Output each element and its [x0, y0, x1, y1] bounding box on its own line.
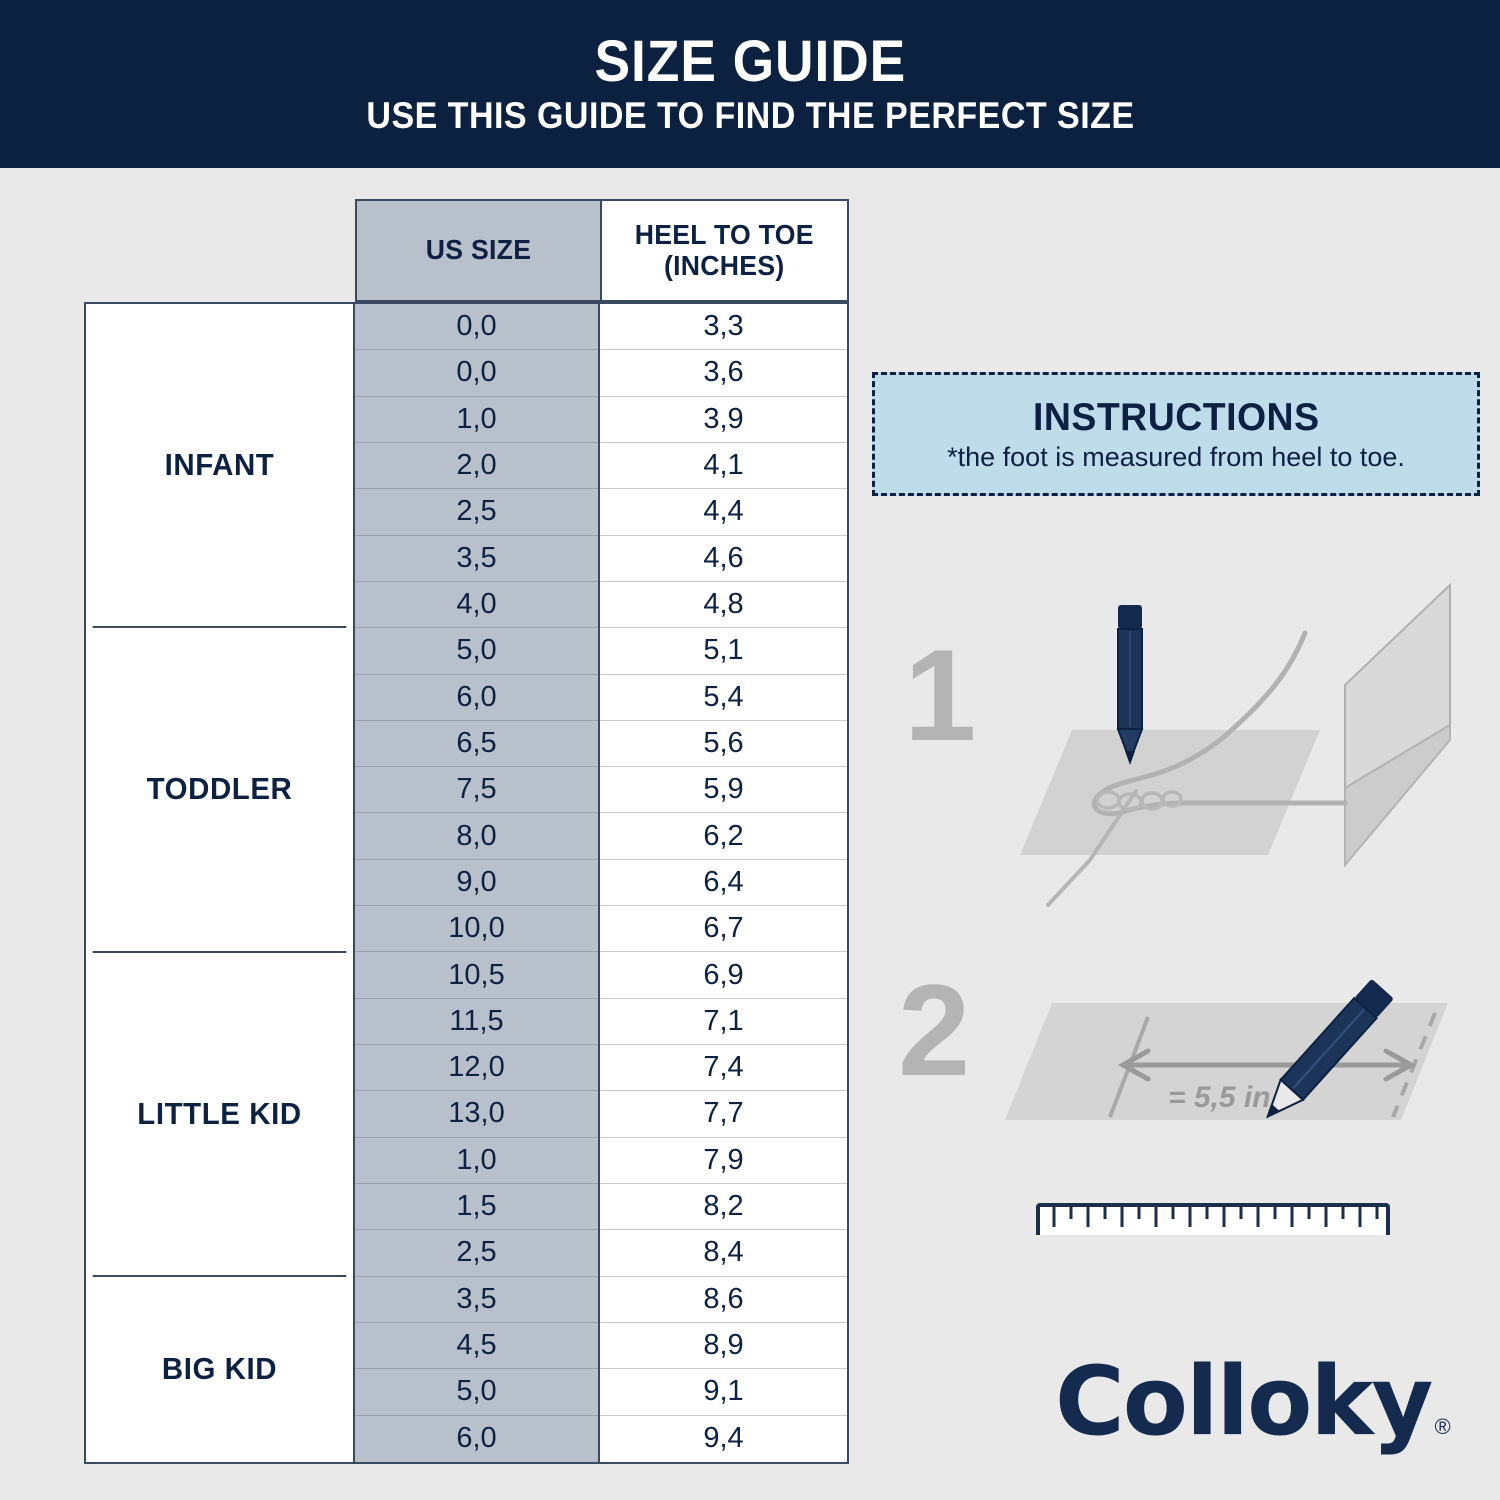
cell-us-size: 5,0	[355, 1369, 598, 1415]
cell-us-size: 5,0	[355, 628, 598, 674]
heel-to-toe-line2: (INCHES)	[664, 250, 785, 281]
cell-us-size: 7,5	[355, 767, 598, 813]
cell-heel-to-toe: 4,6	[600, 536, 847, 582]
cell-heel-to-toe: 6,4	[600, 860, 847, 906]
us-size-column: 0,00,01,02,02,53,54,05,06,06,57,58,09,01…	[355, 304, 600, 1462]
brand-logo-text: Colloky	[1055, 1355, 1431, 1450]
cell-heel-to-toe: 8,9	[600, 1323, 847, 1369]
cell-us-size: 2,5	[355, 1230, 598, 1276]
column-header-heel-to-toe: HEEL TO TOE (INCHES)	[602, 201, 847, 300]
group-label-infant: INFANT	[93, 304, 347, 628]
cell-us-size: 3,5	[355, 1277, 598, 1323]
cell-us-size: 6,0	[355, 675, 598, 721]
instructions-title: INSTRUCTIONS	[1033, 396, 1320, 440]
cell-us-size: 9,0	[355, 860, 598, 906]
cell-us-size: 2,0	[355, 443, 598, 489]
cell-us-size: 8,0	[355, 813, 598, 859]
cell-heel-to-toe: 4,1	[600, 443, 847, 489]
cell-heel-to-toe: 3,6	[600, 350, 847, 396]
cell-us-size: 10,5	[355, 952, 598, 998]
cell-us-size: 12,0	[355, 1045, 598, 1091]
cell-us-size: 10,0	[355, 906, 598, 952]
cell-heel-to-toe: 5,9	[600, 767, 847, 813]
cell-us-size: 1,5	[355, 1184, 598, 1230]
group-label-big-kid: BIG KID	[93, 1277, 347, 1462]
step-1-diagram	[890, 575, 1490, 915]
cell-heel-to-toe: 8,4	[600, 1230, 847, 1276]
pencil-icon	[1118, 605, 1142, 765]
page-header: SIZE GUIDE USE THIS GUIDE TO FIND THE PE…	[0, 0, 1500, 168]
ruler-icon	[1038, 1205, 1388, 1235]
cell-heel-to-toe: 5,4	[600, 675, 847, 721]
cell-heel-to-toe: 3,3	[600, 304, 847, 350]
cell-heel-to-toe: 7,4	[600, 1045, 847, 1091]
cell-heel-to-toe: 6,7	[600, 906, 847, 952]
page-subtitle: USE THIS GUIDE TO FIND THE PERFECT SIZE	[366, 97, 1134, 136]
cell-us-size: 4,5	[355, 1323, 598, 1369]
cell-heel-to-toe: 4,8	[600, 582, 847, 628]
group-label-little-kid: LITTLE KID	[93, 953, 347, 1277]
brand-logo: Colloky ®	[1055, 1355, 1451, 1450]
cell-us-size: 3,5	[355, 536, 598, 582]
cell-us-size: 2,5	[355, 489, 598, 535]
cell-us-size: 4,0	[355, 582, 598, 628]
step-2-number: 2	[898, 965, 968, 1095]
group-label-column: INFANTTODDLERLITTLE KIDBIG KID	[86, 304, 355, 1462]
step-2-illustration: 2 = 5,5 in	[890, 955, 1490, 1235]
step-1-illustration: 1	[890, 575, 1490, 915]
registered-trademark-icon: ®	[1434, 1414, 1450, 1440]
table-header-row: US SIZE HEEL TO TOE (INCHES)	[355, 199, 849, 302]
heel-to-toe-column: 3,33,63,94,14,44,64,85,15,45,65,96,26,46…	[600, 304, 847, 1462]
cell-heel-to-toe: 9,1	[600, 1369, 847, 1415]
cell-heel-to-toe: 6,9	[600, 952, 847, 998]
instructions-box: INSTRUCTIONS *the foot is measured from …	[872, 372, 1480, 496]
cell-heel-to-toe: 5,6	[600, 721, 847, 767]
table-body: INFANTTODDLERLITTLE KIDBIG KID 0,00,01,0…	[84, 302, 849, 1464]
cell-us-size: 1,0	[355, 1138, 598, 1184]
size-table: US SIZE HEEL TO TOE (INCHES) INFANTTODDL…	[84, 199, 849, 1464]
column-header-us-size: US SIZE	[357, 201, 602, 300]
cell-us-size: 11,5	[355, 999, 598, 1045]
group-label-toddler: TODDLER	[93, 628, 347, 952]
cell-heel-to-toe: 8,6	[600, 1277, 847, 1323]
cell-heel-to-toe: 9,4	[600, 1416, 847, 1462]
measurement-label: = 5,5 in	[1168, 1081, 1271, 1114]
cell-heel-to-toe: 3,9	[600, 397, 847, 443]
cell-heel-to-toe: 7,1	[600, 999, 847, 1045]
cell-heel-to-toe: 5,1	[600, 628, 847, 674]
step-2-diagram: = 5,5 in	[890, 955, 1490, 1235]
step-1-number: 1	[904, 630, 974, 760]
cell-us-size: 13,0	[355, 1091, 598, 1137]
cell-us-size: 1,0	[355, 397, 598, 443]
data-columns: 0,00,01,02,02,53,54,05,06,06,57,58,09,01…	[355, 304, 847, 1462]
cell-heel-to-toe: 7,7	[600, 1091, 847, 1137]
cell-us-size: 0,0	[355, 304, 598, 350]
cell-us-size: 6,0	[355, 1416, 598, 1462]
instructions-note: *the foot is measured from heel to toe.	[947, 442, 1405, 473]
cell-us-size: 0,0	[355, 350, 598, 396]
cell-heel-to-toe: 4,4	[600, 489, 847, 535]
cell-heel-to-toe: 7,9	[600, 1138, 847, 1184]
page-title: SIZE GUIDE	[594, 32, 906, 91]
cell-heel-to-toe: 8,2	[600, 1184, 847, 1230]
column-header-us-size-label: US SIZE	[426, 235, 531, 266]
column-header-heel-to-toe-label: HEEL TO TOE (INCHES)	[635, 220, 814, 282]
heel-to-toe-line1: HEEL TO TOE	[635, 219, 814, 250]
cell-us-size: 6,5	[355, 721, 598, 767]
cell-heel-to-toe: 6,2	[600, 813, 847, 859]
